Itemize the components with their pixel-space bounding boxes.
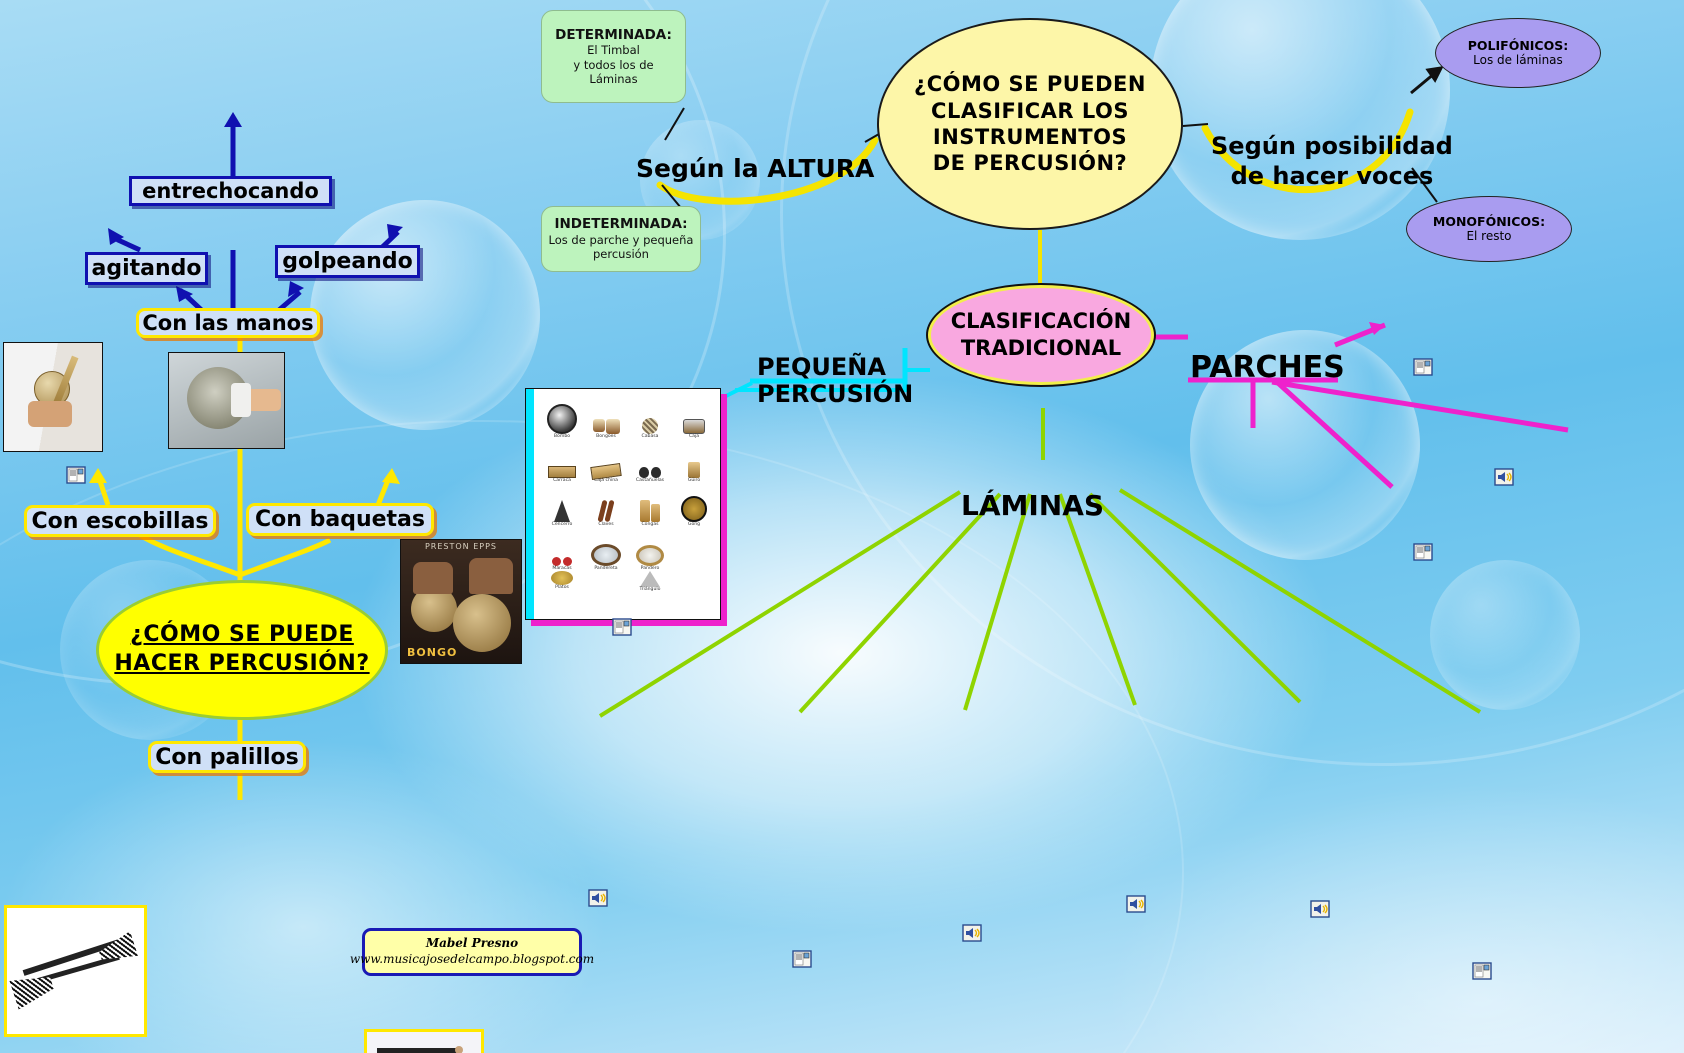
classification-ellipse[interactable]: CLASIFICACIÓN TRADICIONAL [928, 285, 1154, 385]
maraca-photo[interactable] [3, 342, 103, 452]
main-question-ellipse[interactable]: ¿CÓMO SE PUEDEN CLASIFICAR LOS INSTRUMEN… [877, 18, 1183, 230]
branch-label-altura: Según la ALTURA [636, 126, 874, 184]
main-question-line: CLASIFICAR LOS [914, 98, 1146, 124]
sticks-baquetas[interactable]: Con baquetas [246, 503, 434, 536]
category-parches-text: PARCHES [1190, 350, 1345, 385]
pequena-percusion-chart[interactable]: Bombo Bongoes Cabasa Caja Carraca Caja c… [525, 388, 721, 620]
cymbals-photo[interactable] [168, 352, 285, 449]
branch-label-voces: Según posibilidad de hacer voces [1211, 100, 1453, 192]
sound-icon[interactable] [1310, 900, 1330, 918]
branch-label-voces-text: Según posibilidad de hacer voces [1211, 132, 1453, 191]
document-icon[interactable] [1413, 358, 1433, 376]
polifonicos-header: POLIFÓNICOS: [1468, 38, 1568, 54]
sticks-escobillas-text: Con escobillas [31, 509, 208, 534]
credit-box[interactable]: Mabel Presno www.musicajosedelcampo.blog… [362, 928, 582, 976]
document-icon[interactable] [1413, 543, 1433, 561]
sound-icon[interactable] [962, 924, 982, 942]
main-question-line: DE PERCUSIÓN? [914, 150, 1146, 176]
hands-child-entrechocando[interactable]: entrechocando [129, 176, 332, 206]
secondary-question-line: ¿CÓMO SE PUEDE [114, 621, 369, 650]
classification-line: TRADICIONAL [951, 335, 1131, 362]
hands-child-golpeando[interactable]: golpeando [275, 245, 420, 278]
sticks-baquetas-text: Con baquetas [255, 507, 425, 532]
altura-determinada-header: DETERMINADA: [555, 27, 672, 44]
credit-author: Mabel Presno [426, 936, 518, 952]
voces-ellipse-monofonicos[interactable]: MONOFÓNICOS: El resto [1406, 196, 1572, 262]
category-laminas-text: LÁMINAS [961, 489, 1104, 522]
bongos-cover-title: PRESTON EPPS [405, 542, 517, 551]
altura-box-determinada[interactable]: DETERMINADA: El Timbal y todos los de Lá… [541, 10, 686, 103]
secondary-question-ellipse[interactable]: ¿CÓMO SE PUEDE HACER PERCUSIÓN? [96, 580, 388, 720]
category-pequena-percusion[interactable]: PEQUEÑA PERCUSIÓN [757, 326, 913, 409]
sticks-palillos-text: Con palillos [155, 745, 299, 770]
main-question-line: INSTRUMENTOS [914, 124, 1146, 150]
altura-indeterminada-body: Los de parche y pequeña percusión [549, 233, 694, 262]
branch-label-altura-text: Según la ALTURA [636, 154, 874, 183]
secondary-question-line: HACER PERCUSIÓN? [114, 650, 369, 679]
category-parches[interactable]: PARCHES [1190, 316, 1345, 385]
hands-child-agitando-text: agitando [91, 256, 201, 281]
document-icon[interactable] [1472, 962, 1492, 980]
monofonicos-body: El resto [1433, 229, 1545, 244]
hands-child-entrechocando-text: entrechocando [142, 179, 319, 203]
document-icon[interactable] [792, 950, 812, 968]
mallets-chart-photo[interactable] [364, 1029, 484, 1053]
altura-determinada-body: El Timbal y todos los de Láminas [548, 43, 679, 86]
polifonicos-body: Los de láminas [1468, 53, 1568, 68]
sound-icon[interactable] [1494, 468, 1514, 486]
chart-label: Platos [555, 585, 569, 590]
document-icon[interactable] [66, 466, 86, 484]
sticks-escobillas[interactable]: Con escobillas [24, 505, 216, 537]
sound-icon[interactable] [588, 889, 608, 907]
monofonicos-header: MONOFÓNICOS: [1433, 214, 1545, 230]
mindmap-canvas: ¿CÓMO SE PUEDEN CLASIFICAR LOS INSTRUMEN… [0, 0, 1684, 1053]
hands-child-agitando[interactable]: agitando [85, 252, 208, 285]
classification-line: CLASIFICACIÓN [951, 308, 1131, 335]
main-question-line: ¿CÓMO SE PUEDEN [914, 71, 1146, 97]
voces-ellipse-polifonicos[interactable]: POLIFÓNICOS: Los de láminas [1435, 18, 1601, 88]
category-pequena-text: PEQUEÑA PERCUSIÓN [757, 353, 913, 409]
chart-label: Triángulo [640, 587, 661, 592]
altura-indeterminada-header: INDETERMINADA: [554, 216, 687, 233]
document-icon[interactable] [612, 618, 632, 636]
hands-root-text: Con las manos [142, 311, 313, 335]
category-laminas[interactable]: LÁMINAS [961, 458, 1104, 522]
sticks-palillos[interactable]: Con palillos [148, 741, 306, 773]
brushes-photo[interactable] [4, 905, 147, 1037]
hands-child-golpeando-text: golpeando [282, 249, 412, 274]
hands-root[interactable]: Con las manos [136, 308, 320, 338]
bongos-cover-photo[interactable]: PRESTON EPPS BONGO [400, 539, 522, 664]
credit-site: www.musicajosedelcampo.blogspot.com [350, 952, 594, 968]
altura-box-indeterminada[interactable]: INDETERMINADA: Los de parche y pequeña p… [541, 206, 701, 272]
sound-icon[interactable] [1126, 895, 1146, 913]
